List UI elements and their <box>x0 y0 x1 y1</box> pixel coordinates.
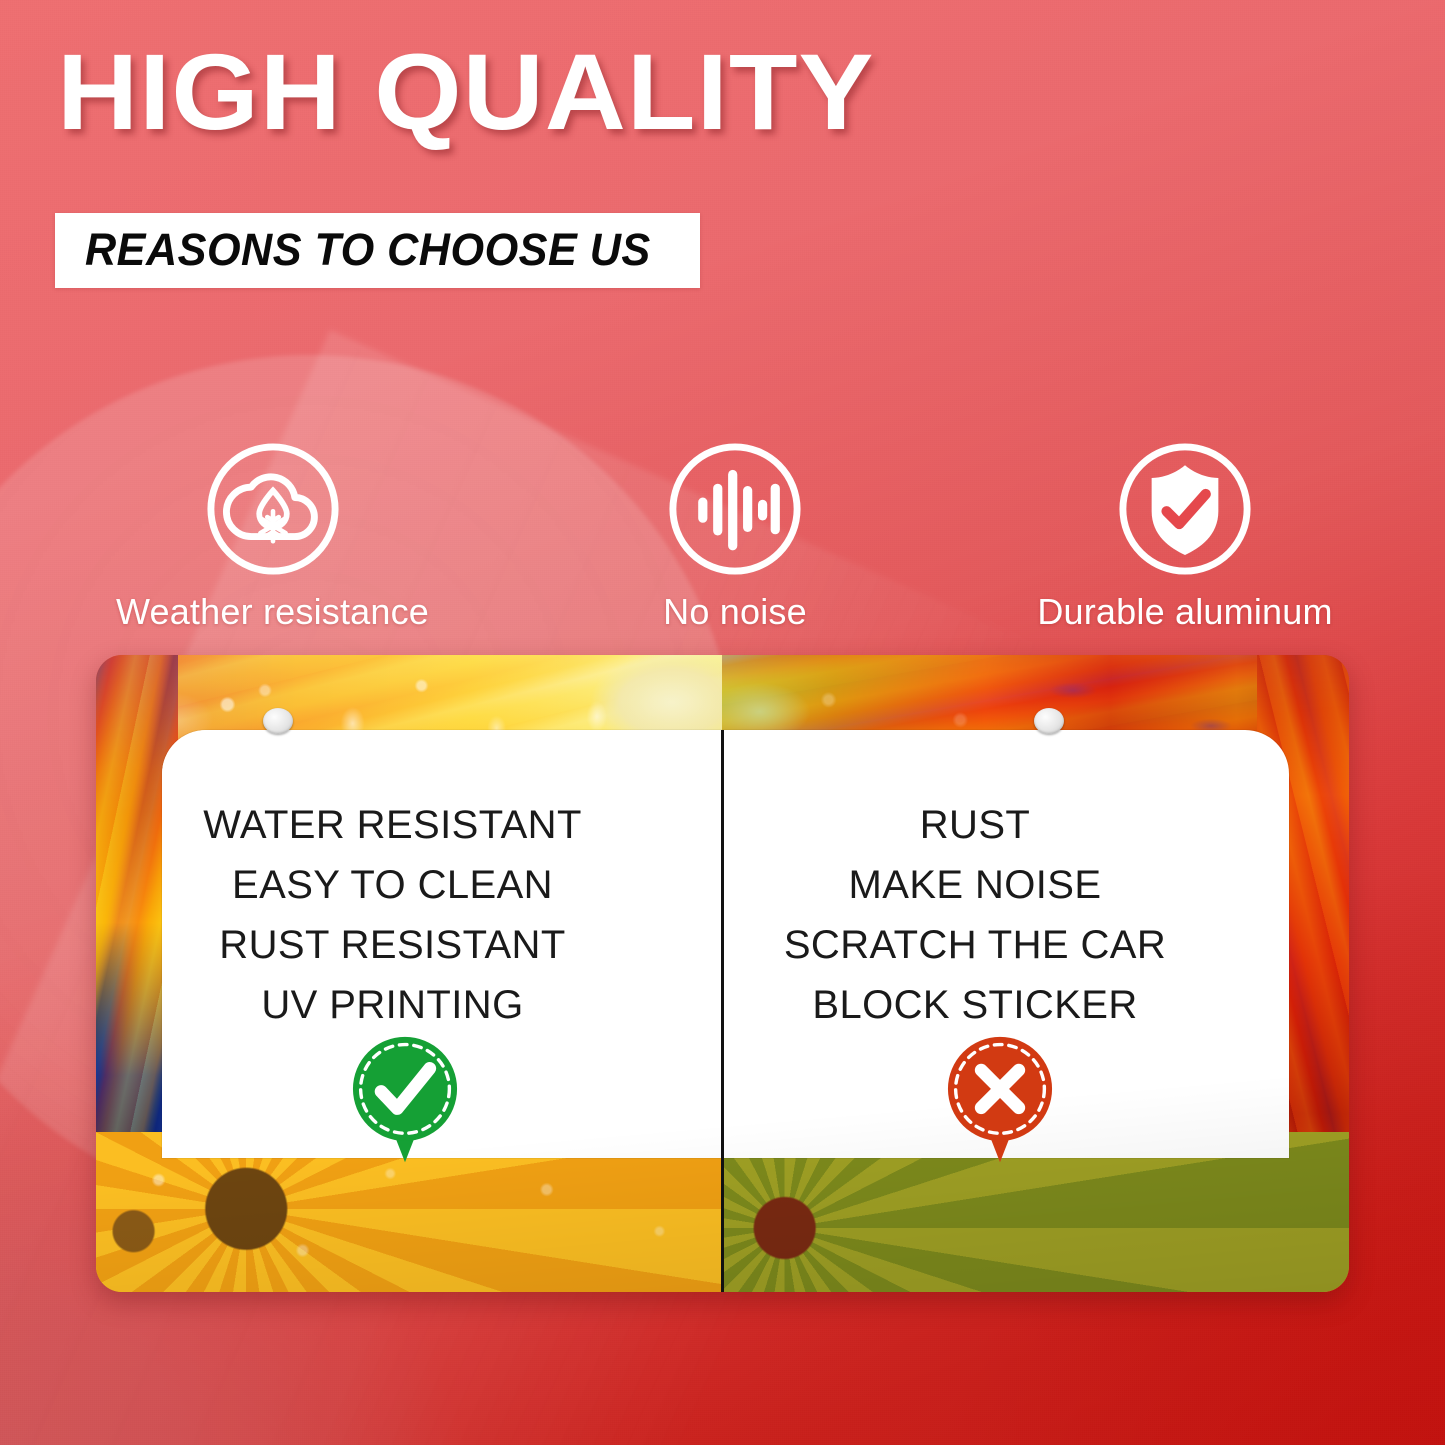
feature-weather-resistance: Weather resistance <box>0 440 545 630</box>
pros-list: WATER RESISTANT EASY TO CLEAN RUST RESIS… <box>163 795 622 1035</box>
feature-list: Weather resistance No noise <box>0 440 1445 630</box>
comparison-divider <box>721 730 724 1292</box>
feature-no-noise: No noise <box>545 440 925 630</box>
list-item: BLOCK STICKER <box>740 975 1210 1035</box>
cons-list: RUST MAKE NOISE SCRATCH THE CAR BLOCK ST… <box>740 795 1210 1035</box>
mounting-hole-left <box>263 708 293 734</box>
sound-wave-icon <box>666 440 804 578</box>
feature-label: Durable aluminum <box>1037 594 1332 630</box>
infographic-canvas: HIGH QUALITY REASONS TO CHOOSE US <box>0 0 1445 1445</box>
cloud-water-snowflake-icon <box>204 440 342 578</box>
pros-check-badge <box>341 1036 469 1164</box>
list-item: WATER RESISTANT <box>163 795 622 855</box>
feature-label: Weather resistance <box>116 594 429 630</box>
feature-label: No noise <box>663 594 807 630</box>
list-item: UV PRINTING <box>163 975 622 1035</box>
subtitle-text: REASONS TO CHOOSE US <box>85 227 651 272</box>
feature-durable-aluminum: Durable aluminum <box>925 440 1445 630</box>
list-item: RUST RESISTANT <box>163 915 622 975</box>
mounting-hole-right <box>1034 708 1064 734</box>
list-item: MAKE NOISE <box>740 855 1210 915</box>
page-title: HIGH QUALITY <box>57 38 874 146</box>
list-item: RUST <box>740 795 1210 855</box>
list-item: SCRATCH THE CAR <box>740 915 1210 975</box>
list-item: EASY TO CLEAN <box>163 855 622 915</box>
cons-cross-badge <box>936 1036 1064 1164</box>
subtitle-bar: REASONS TO CHOOSE US <box>55 213 700 288</box>
shield-check-icon <box>1116 440 1254 578</box>
